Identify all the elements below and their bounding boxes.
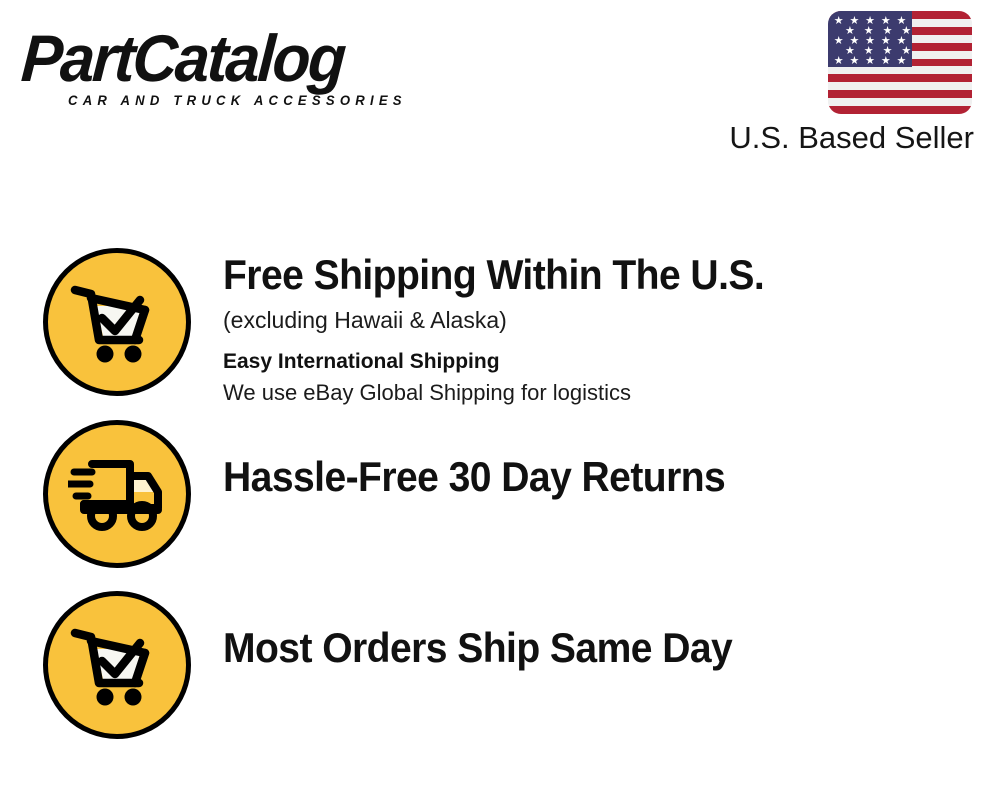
- feature-text: Hassle-Free 30 Day Returns: [191, 420, 1000, 502]
- seller-label: U.S. Based Seller: [729, 120, 974, 156]
- promo-banner: PartCatalog CAR AND TRUCK ACCESSORIES: [0, 0, 1000, 800]
- us-based-seller-badge: ★★★★★ ★★★★ ★★★★★ ★★★★ ★★★★★ U.S. Based S…: [718, 8, 988, 160]
- delivery-truck-icon: [43, 420, 191, 568]
- brand-tagline: CAR AND TRUCK ACCESSORIES: [68, 93, 481, 108]
- us-flag-icon: ★★★★★ ★★★★ ★★★★★ ★★★★ ★★★★★: [828, 11, 972, 114]
- feature-row: Most Orders Ship Same Day: [0, 591, 1000, 739]
- feature-row: Hassle-Free 30 Day Returns: [0, 420, 1000, 568]
- feature-text: Most Orders Ship Same Day: [191, 591, 1000, 673]
- feature-heading: Hassle-Free 30 Day Returns: [223, 452, 946, 502]
- shopping-cart-check-icon: [43, 591, 191, 739]
- feature-heading: Free Shipping Within The U.S.: [223, 250, 946, 300]
- shopping-cart-check-icon: [43, 248, 191, 396]
- feature-subheading: Easy International Shipping: [223, 347, 1000, 377]
- feature-heading: Most Orders Ship Same Day: [223, 623, 946, 673]
- feature-text: Free Shipping Within The U.S. (excluding…: [191, 248, 1000, 408]
- brand-wordmark: PartCatalog: [19, 22, 466, 94]
- feature-row: Free Shipping Within The U.S. (excluding…: [0, 248, 1000, 408]
- feature-subnote: (excluding Hawaii & Alaska): [223, 304, 1000, 336]
- brand-logo: PartCatalog CAR AND TRUCK ACCESSORIES: [24, 22, 494, 114]
- flag-canton: ★★★★★ ★★★★ ★★★★★ ★★★★ ★★★★★: [828, 11, 912, 67]
- feature-subtext: We use eBay Global Shipping for logistic…: [223, 377, 1000, 408]
